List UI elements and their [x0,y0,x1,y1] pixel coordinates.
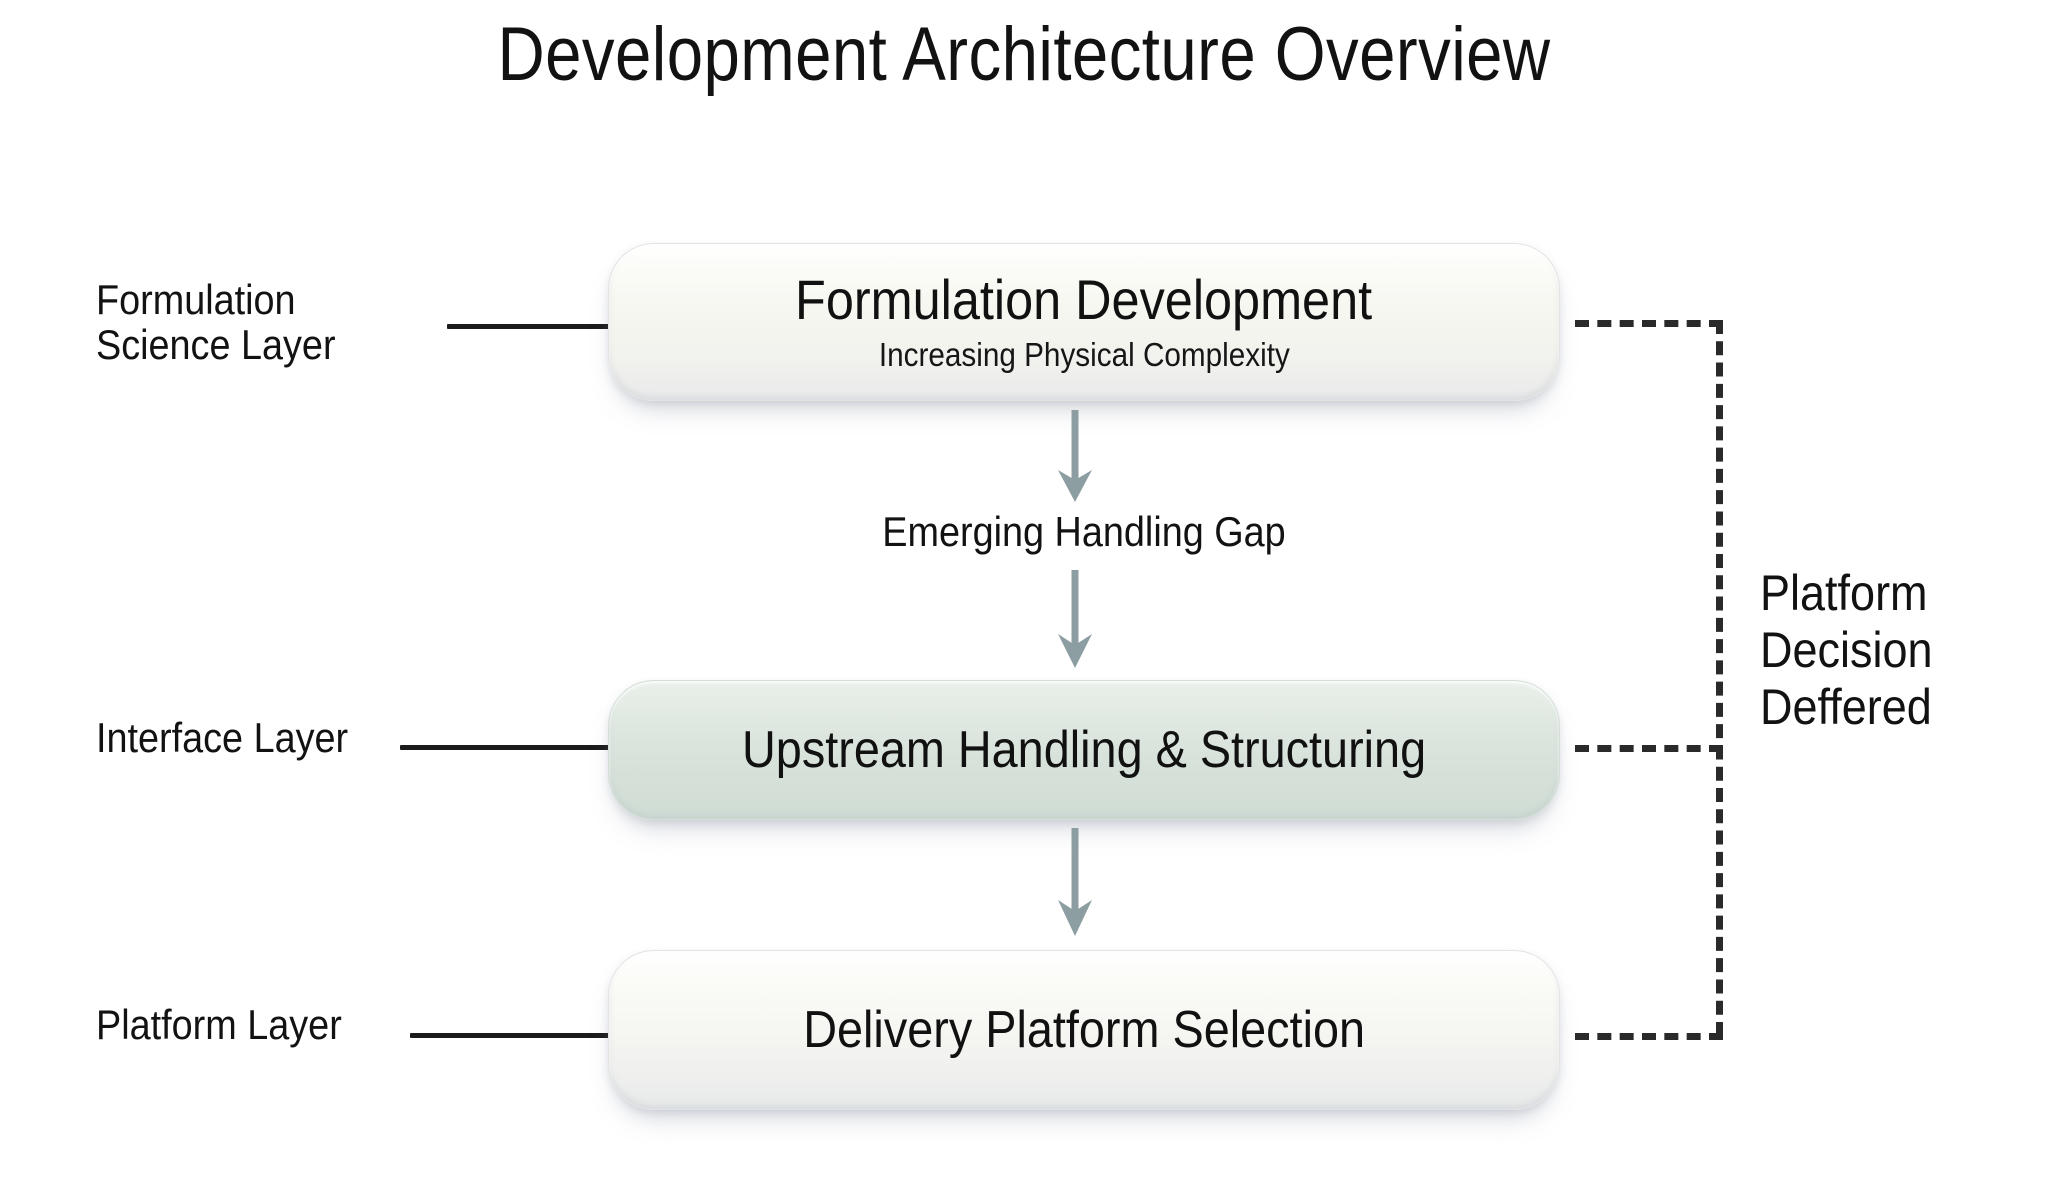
layer-label-interface: Interface Layer [96,715,348,760]
node-formulation-development[interactable]: Formulation Development Increasing Physi… [608,243,1560,401]
arrow-down-icon-formulation-to-gap [1055,410,1095,510]
bracket-annotation: Platform Decision Deffered [1760,565,1933,736]
node-title: Formulation Development [795,271,1372,330]
node-title: Upstream Handling & Structuring [742,723,1426,778]
layer-label-platform: Platform Layer [96,1002,342,1047]
layer-label-line-1: Interface Layer [96,715,348,760]
page-title: Development Architecture Overview [143,14,1904,96]
diagram-canvas: Development Architecture Overview Formul… [0,0,2048,1193]
bracket-annotation-line-2: Decision [1760,622,1933,679]
node-subtitle: Increasing Physical Complexity [878,338,1289,373]
bracket-dash-bottom [1575,1033,1723,1040]
flow-gap-caption: Emerging Handling Gap [656,508,1513,556]
connector-line-interface [400,745,609,750]
layer-label-line-2: Science Layer [96,322,336,367]
bracket-dash-middle [1575,745,1723,752]
arrow-down-icon-upstream-to-delivery [1055,828,1095,944]
arrow-down-icon-gap-to-upstream [1055,570,1095,676]
connector-line-formulation-science [447,324,609,329]
connector-line-platform [410,1033,609,1038]
bracket-annotation-line-1: Platform [1760,565,1933,622]
node-upstream-handling[interactable]: Upstream Handling & Structuring [608,680,1560,820]
bracket-annotation-line-3: Deffered [1760,679,1933,736]
layer-label-formulation-science: Formulation Science Layer [96,277,336,368]
bracket-dash-top [1575,320,1723,327]
bracket-dash-vertical [1716,320,1723,1036]
layer-label-line-1: Platform Layer [96,1002,342,1047]
layer-label-line-1: Formulation [96,277,336,322]
node-delivery-platform[interactable]: Delivery Platform Selection [608,950,1560,1110]
node-title: Delivery Platform Selection [803,1003,1365,1058]
